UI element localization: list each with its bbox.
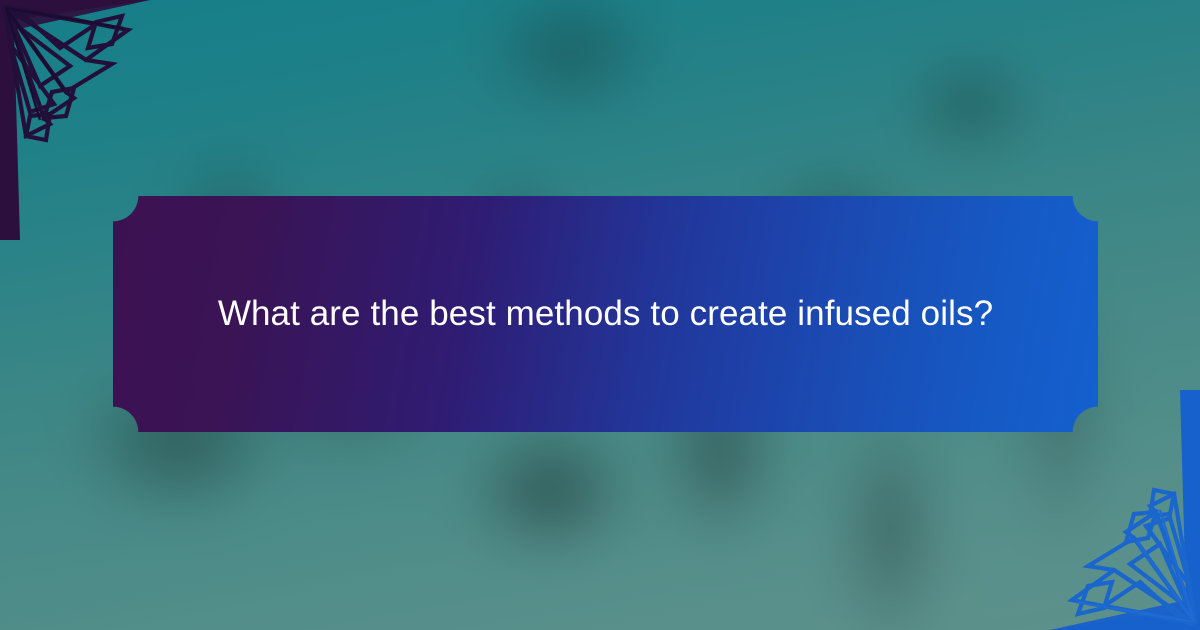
- question-banner: What are the best methods to create infu…: [113, 196, 1098, 432]
- social-card-canvas: What are the best methods to create infu…: [0, 0, 1200, 630]
- question-text: What are the best methods to create infu…: [218, 287, 993, 341]
